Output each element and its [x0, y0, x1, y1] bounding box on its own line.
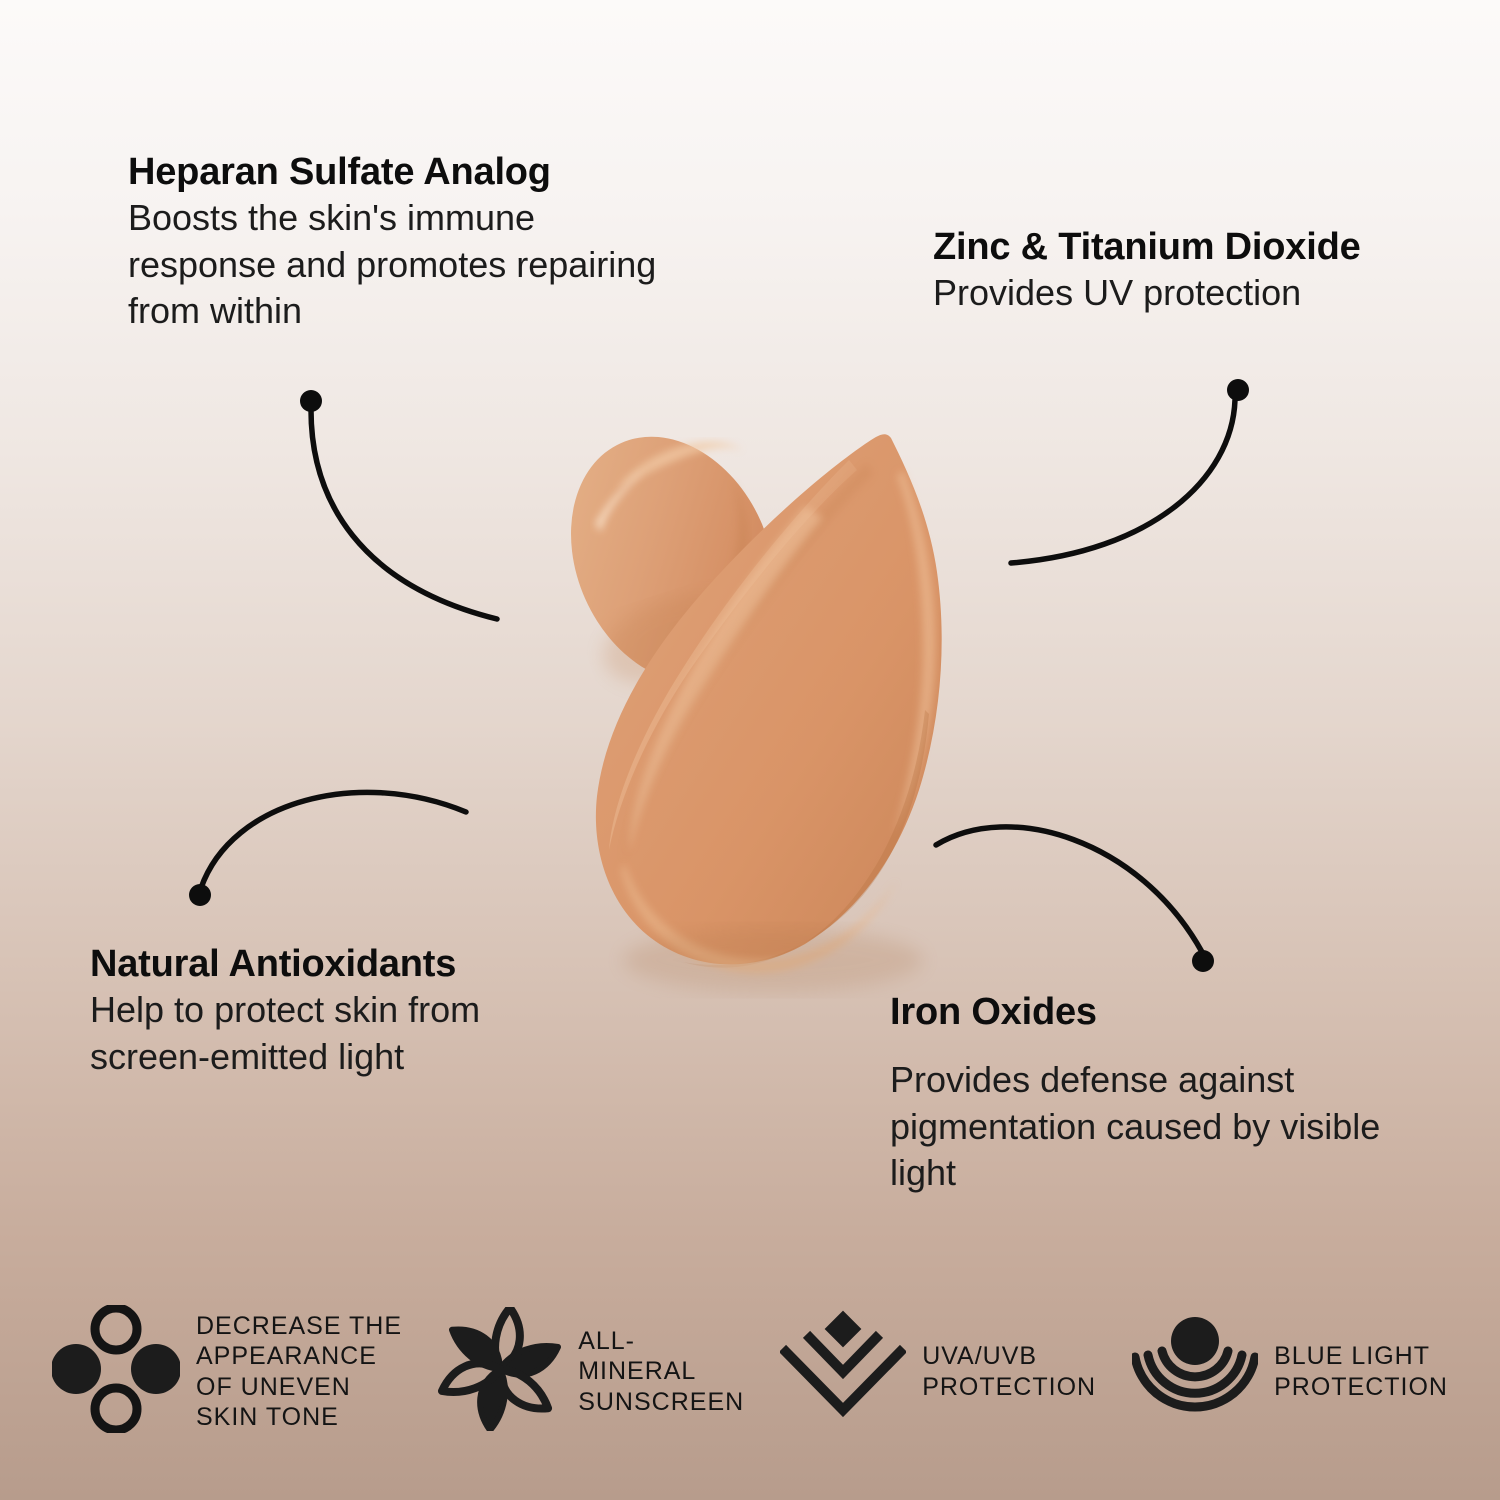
benefit-label: Blue light protection	[1274, 1341, 1448, 1402]
connector-heparan	[311, 410, 497, 619]
benefit-uneven-skin-tone: Decrease the appearance of uneven skin t…	[52, 1305, 402, 1438]
connector-antioxidants	[201, 792, 466, 888]
connector-dot-heparan	[300, 390, 322, 412]
callout-body: Boosts the skin's immune response and pr…	[128, 195, 658, 335]
cream-swatch-art	[505, 310, 1005, 1000]
callout-body: Provides defense against pigmentation ca…	[890, 1057, 1430, 1197]
callout-iron-oxides: Iron Oxides Provides defense against pig…	[890, 990, 1430, 1197]
connector-dot-iron	[1192, 950, 1214, 972]
flower-icon	[438, 1307, 562, 1436]
callout-title: Iron Oxides	[890, 990, 1430, 1035]
callout-body: Help to protect skin from screen-emitted…	[90, 987, 610, 1081]
callout-title: Heparan Sulfate Analog	[128, 150, 658, 195]
connector-dot-zinc	[1227, 379, 1249, 401]
chevron-rays-icon	[780, 1310, 906, 1433]
benefit-label: UVA/UVB protection	[922, 1341, 1096, 1402]
callout-title: Natural Antioxidants	[90, 942, 610, 987]
benefit-blue-light-protection: Blue light protection	[1132, 1311, 1448, 1432]
callout-zinc-titanium-dioxide: Zinc & Titanium Dioxide Provides UV prot…	[933, 225, 1453, 317]
callout-title: Zinc & Titanium Dioxide	[933, 225, 1453, 270]
infographic-stage: Heparan Sulfate Analog Boosts the skin's…	[0, 0, 1500, 1500]
connector-dot-antioxidants	[189, 884, 211, 906]
callout-natural-antioxidants: Natural Antioxidants Help to protect ski…	[90, 942, 610, 1080]
foundation-cream-swatch	[505, 310, 1005, 1000]
radiating-sun-icon	[1132, 1311, 1258, 1432]
benefit-label: Decrease the appearance of uneven skin t…	[196, 1311, 402, 1433]
benefit-uva-uvb-protection: UVA/UVB protection	[780, 1310, 1096, 1433]
benefit-all-mineral-sunscreen: All-mineral sunscreen	[438, 1307, 744, 1436]
benefits-row: Decrease the appearance of uneven skin t…	[0, 1305, 1500, 1438]
four-circles-icon	[52, 1305, 180, 1438]
connector-zinc	[1011, 400, 1235, 563]
callout-body: Provides UV protection	[933, 270, 1453, 317]
benefit-label: All-mineral sunscreen	[578, 1326, 744, 1418]
callout-heparan-sulfate: Heparan Sulfate Analog Boosts the skin's…	[128, 150, 658, 335]
